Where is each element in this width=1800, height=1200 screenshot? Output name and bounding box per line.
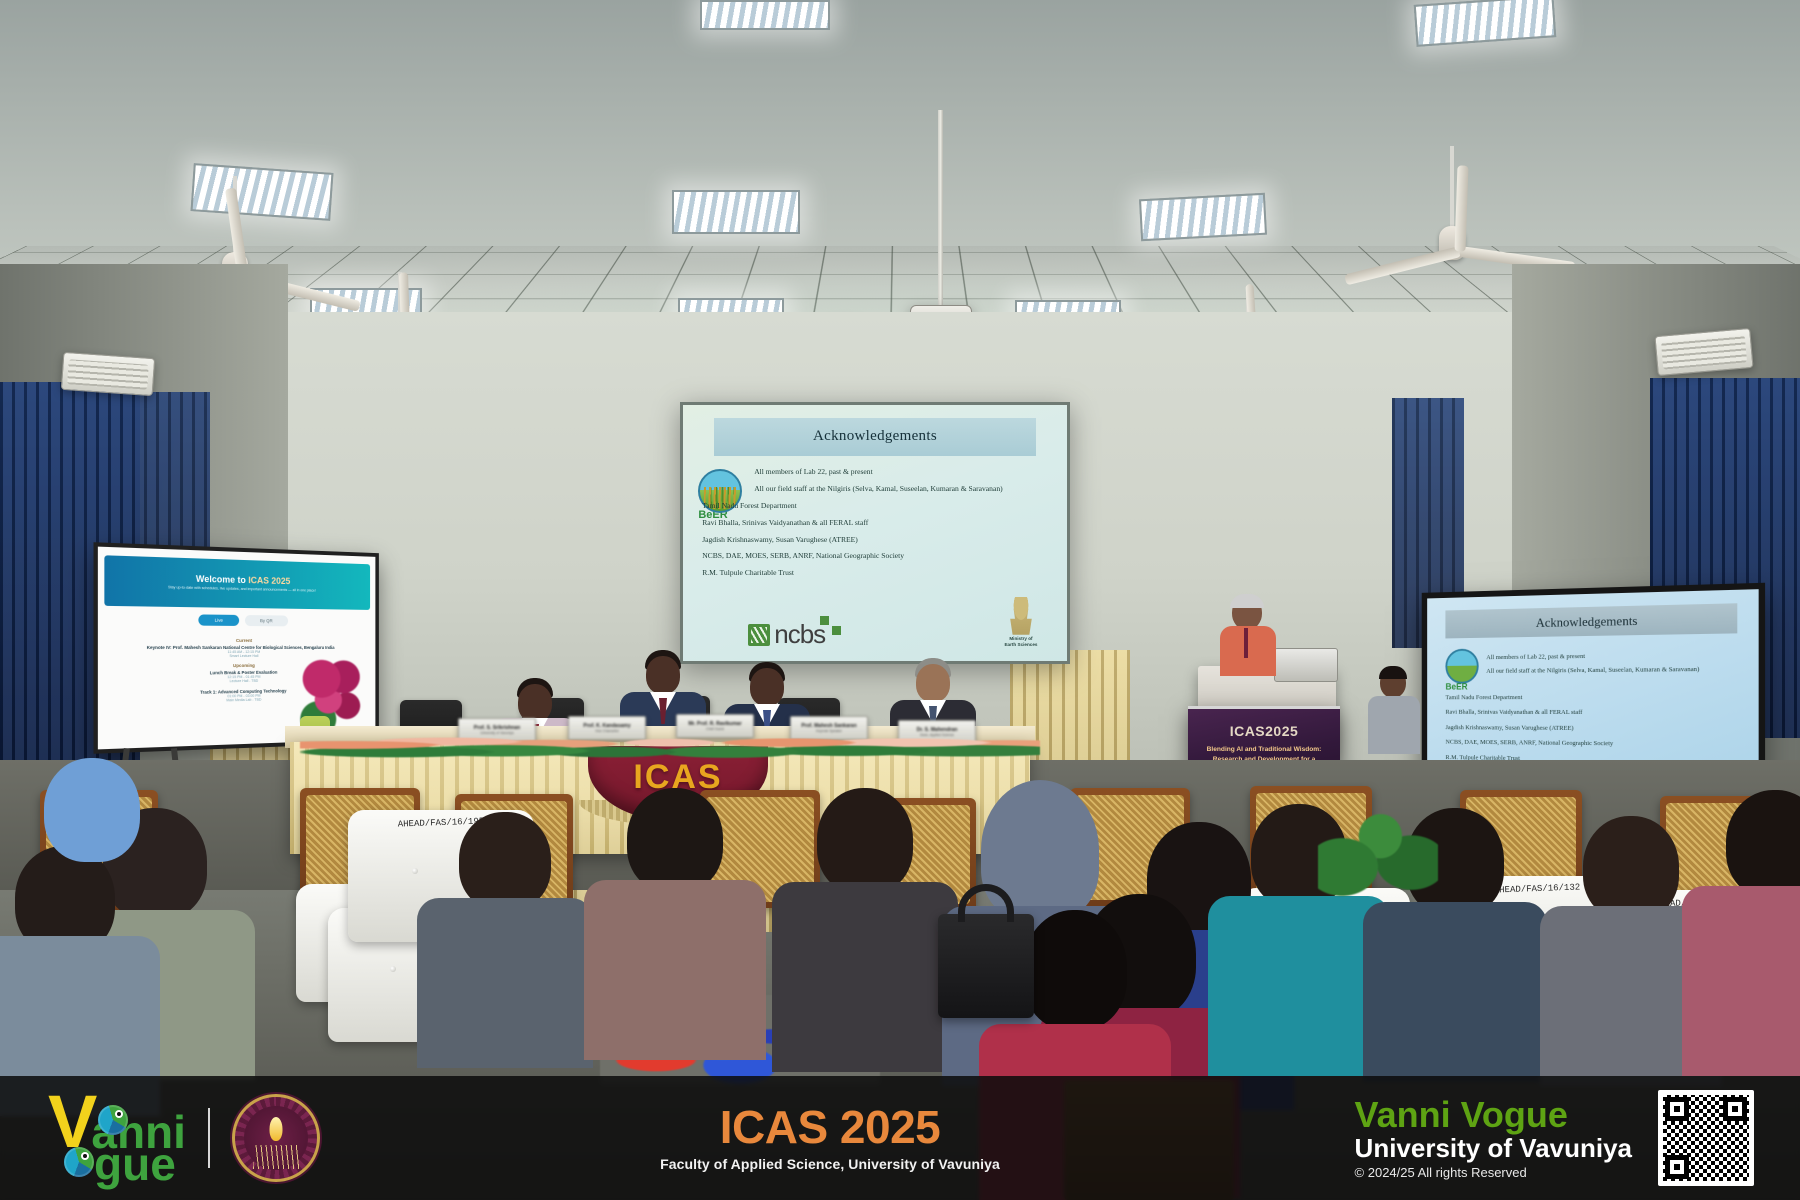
welcome-header: Welcome to ICAS 2025 Stay up-to-date wit…: [104, 555, 370, 610]
dignitary-head: [750, 668, 784, 706]
speaker-hair: [1230, 594, 1264, 608]
slide-line: Ravi Bhalla, Srinivas Vaidyanathan & all…: [702, 517, 1055, 529]
ncbs-wordmark: ncbs: [774, 624, 825, 645]
presentation-slide: Acknowledgements BeER All members of Lab…: [683, 405, 1067, 661]
standee-title-text: ICAS: [1230, 723, 1265, 739]
slide-line: Jagdish Krishnaswamy, Susan Varughese (A…: [702, 534, 1055, 546]
speaker-torso: [1220, 626, 1276, 676]
tab-live[interactable]: Live: [199, 615, 239, 627]
audience-member: [430, 790, 580, 1020]
ac-vents: [67, 359, 149, 390]
banner-event-subtitle: Faculty of Applied Science, University o…: [660, 1156, 1000, 1172]
right-slide-line: NCBS, DAE, MOES, SERB, ANRF, National Ge…: [1446, 738, 1745, 752]
ncbs-logo: ncbs: [748, 624, 825, 646]
audience-member: [790, 770, 940, 1010]
slide-line: All members of Lab 22, past & present: [754, 466, 1055, 478]
university-crest-logo: [232, 1094, 320, 1182]
audience-member: [22, 748, 162, 898]
conference-hall-room: Acknowledgements BeER All members of Lab…: [0, 0, 1800, 1200]
banner-event-title: ICAS 2025: [720, 1104, 941, 1150]
logo-letter-v: V: [48, 1093, 97, 1151]
air-conditioner-unit: [1654, 328, 1753, 376]
right-slide-body: All members of Lab 22, past & present Al…: [1446, 650, 1745, 768]
monitor-tab-group: Live By QR: [98, 614, 376, 628]
slide-line: Tamil Nadu Forest Department: [702, 500, 1055, 512]
slide-line: All our field staff at the Nilgiris (Sel…: [754, 483, 1055, 495]
ceiling-panel-light: [190, 163, 333, 221]
handbag: [938, 914, 1034, 1018]
speaker-lanyard: [1244, 628, 1248, 658]
tab-by-qr[interactable]: By QR: [244, 615, 287, 626]
slide-line: R.M. Tulpule Charitable Trust: [702, 567, 1055, 579]
banner-copyright: © 2024/25 All rights Reserved: [1355, 1165, 1632, 1180]
banner-divider: [208, 1108, 210, 1168]
slide-line: NCBS, DAE, MOES, SERB, ANRF, National Ge…: [702, 550, 1055, 562]
lamp-rays-icon: [253, 1145, 299, 1169]
banner-university-name: University of Vavuniya: [1355, 1134, 1632, 1163]
parrot-icon: [98, 1105, 128, 1135]
ceiling-panel-light: [700, 0, 830, 30]
logo-text-gue: gue: [94, 1147, 176, 1183]
audience-head: [627, 788, 723, 892]
speaker-at-podium: [1218, 596, 1278, 672]
chair-stud: [412, 868, 418, 874]
right-slide-line: Jagdish Krishnaswamy, Susan Varughese (A…: [1446, 723, 1745, 735]
air-conditioner-unit: [61, 352, 155, 396]
dignitary-head: [916, 664, 950, 702]
ncbs-leaf-icon: [748, 624, 770, 646]
banner-left-section: V anni gue: [0, 1076, 420, 1200]
standee-title: ICAS2025: [1188, 716, 1340, 742]
lamp-flame-icon: [269, 1117, 282, 1141]
ministry-of-earth-sciences-emblem: Ministry of Earth Sciences: [998, 597, 1044, 648]
banner-right-text-block: Vanni Vogue University of Vavuniya © 202…: [1355, 1096, 1632, 1179]
projection-screen: Acknowledgements BeER All members of Lab…: [680, 402, 1070, 664]
projector-mount-pole: [938, 110, 943, 310]
right-slide-line: All our field staff at the Nilgiris (Sel…: [1486, 665, 1744, 678]
ceiling-panel-light: [672, 190, 800, 234]
welcome-title-highlight: ICAS 2025: [248, 575, 290, 586]
slide-title: Acknowledgements: [813, 428, 937, 445]
standee-year: 2025: [1265, 723, 1298, 739]
right-slide-title: Acknowledgements: [1536, 613, 1638, 631]
bottom-branding-banner: V anni gue ICAS 2025: [0, 1076, 1800, 1200]
potted-palm: [1318, 790, 1438, 900]
qr-code[interactable]: [1658, 1090, 1754, 1186]
banner-brand-name: Vanni Vogue: [1355, 1096, 1632, 1134]
slide-title-band: Acknowledgements: [714, 418, 1037, 456]
welcome-subtitle: Stay up-to-date with schedules, live upd…: [133, 585, 346, 594]
standee-theme-line1: Blending AI and Traditional Wisdom:: [1188, 745, 1340, 755]
right-slide-line: Ravi Bhalla, Srinivas Vaidyanathan & all…: [1446, 708, 1745, 719]
audience-body: [1363, 902, 1547, 1082]
slide-body: All members of Lab 22, past & present Al…: [702, 466, 1055, 583]
ministry-caption-line1: Ministry of: [998, 636, 1044, 642]
chair-stud: [390, 966, 396, 972]
banner-center-section: ICAS 2025 Faculty of Applied Science, Un…: [420, 1076, 1240, 1200]
right-slide-line: Tamil Nadu Forest Department: [1446, 692, 1745, 703]
parrot-eye-icon: [81, 1152, 89, 1160]
ceiling-panel-light: [1139, 193, 1267, 242]
ncbs-square-icon: [832, 626, 841, 635]
standee-top-rail: [1188, 706, 1340, 709]
right-slide-line: All members of Lab 22, past & present: [1486, 650, 1744, 664]
audience-head: [1583, 816, 1679, 920]
parrot-eye-icon: [115, 1110, 123, 1118]
attendee-hair: [1379, 666, 1407, 679]
vanni-vogue-logo: V anni gue: [48, 1093, 186, 1183]
audience-head: [1023, 910, 1127, 1030]
ac-vents: [1661, 335, 1747, 369]
parrot-icon: [64, 1147, 94, 1177]
screenshot-root: Acknowledgements BeER All members of Lab…: [0, 0, 1800, 1200]
qr-finder-bottom-left: [1665, 1155, 1689, 1179]
ceiling-panel-light: [1414, 0, 1557, 47]
right-slide-title-band: Acknowledgements: [1446, 604, 1738, 639]
audience-member: [1700, 770, 1800, 1020]
ncbs-square-icon: [820, 616, 829, 625]
audience-member: [600, 762, 750, 982]
audience-body: [772, 882, 958, 1072]
banner-right-section: Vanni Vogue University of Vavuniya © 202…: [1240, 1076, 1800, 1200]
audience-body: [584, 880, 766, 1060]
schedule-section-current: Current: [98, 637, 376, 643]
audience-head: [1726, 790, 1800, 898]
audience-body: [1682, 886, 1800, 1076]
ashoka-pillar-icon: [1006, 597, 1036, 635]
audience-head-scarf: [44, 758, 140, 862]
audience-head: [459, 812, 551, 910]
welcome-title: Welcome to ICAS 2025: [196, 574, 290, 586]
dignitary-head: [646, 656, 680, 694]
qr-finder-top-left: [1665, 1097, 1689, 1121]
qr-finder-top-right: [1723, 1097, 1747, 1121]
ministry-caption-line2: Earth Sciences: [998, 642, 1044, 648]
welcome-title-prefix: Welcome to: [196, 574, 248, 585]
audience-head: [817, 788, 913, 894]
podium-laptop[interactable]: [1274, 648, 1338, 682]
standing-attendee: [1368, 668, 1420, 752]
attendee-torso: [1368, 696, 1420, 754]
audience-body: [417, 898, 593, 1068]
